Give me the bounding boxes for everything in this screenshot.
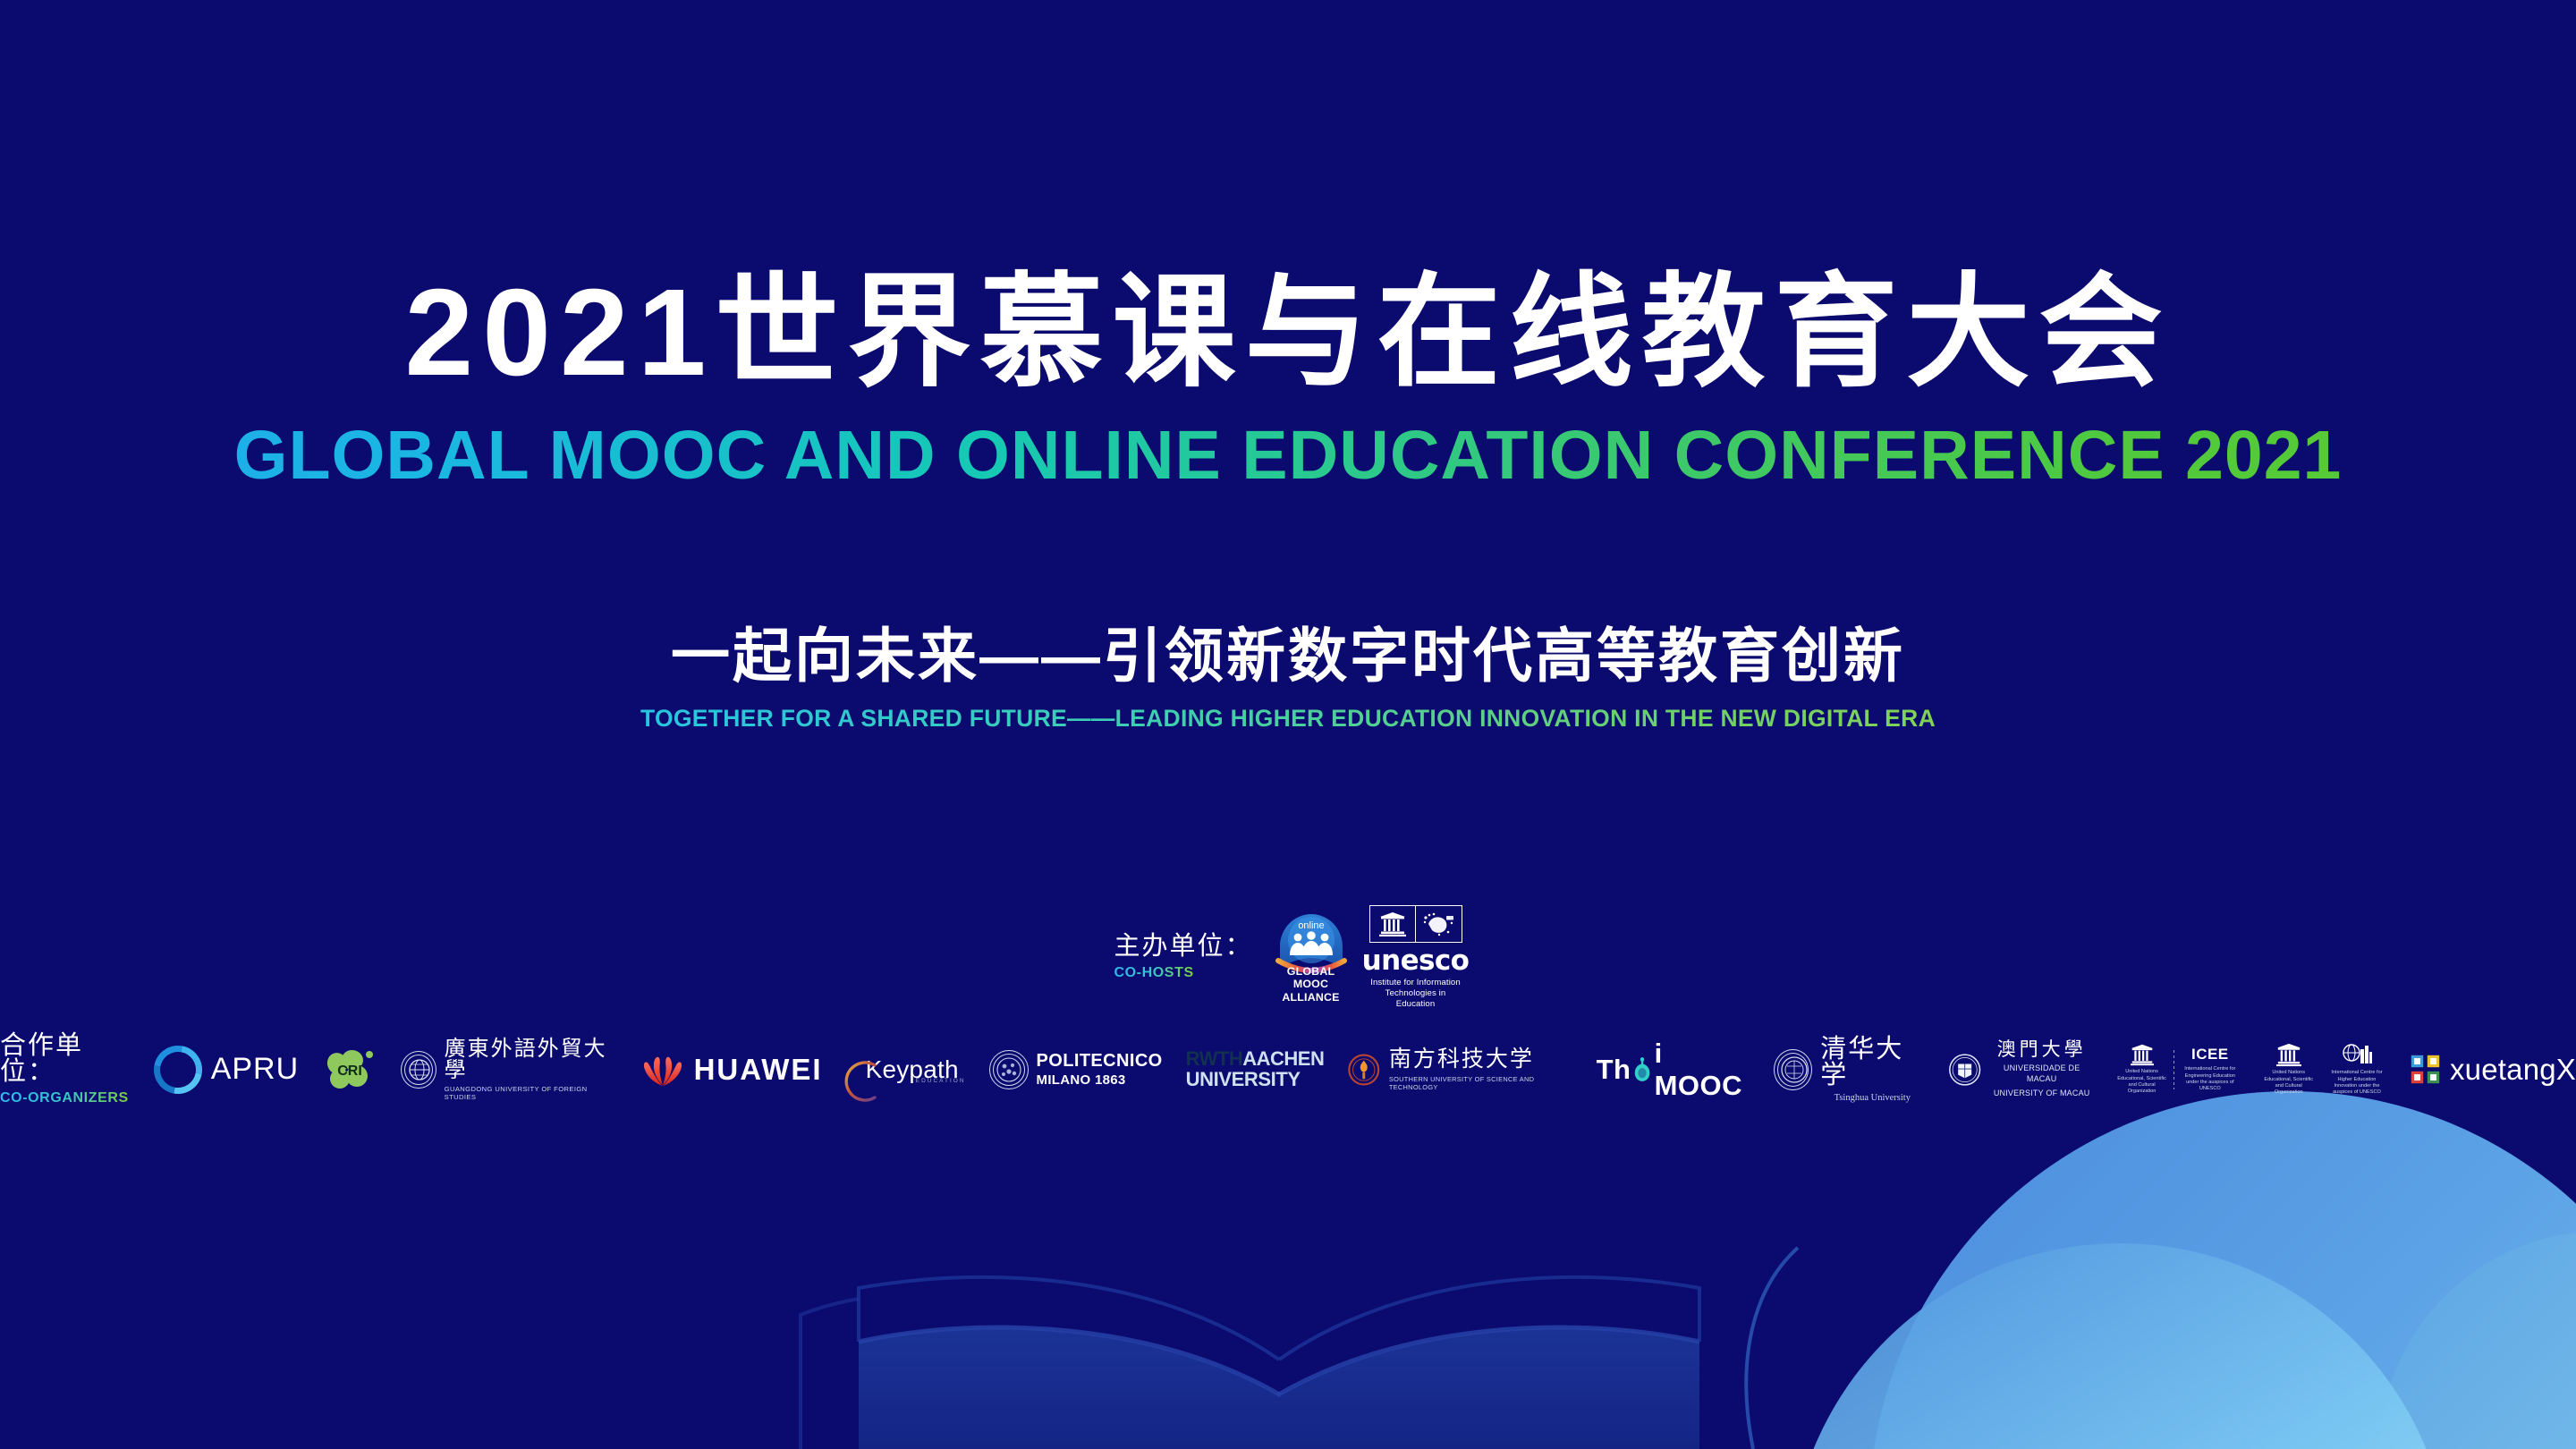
logo-huawei[interactable]: HUAWEI — [642, 1041, 823, 1098]
unesco-sub-line2: Technologies in Education — [1369, 988, 1462, 1010]
logo-unesco-ichei[interactable]: United Nations Educational, Scientific a… — [2263, 1041, 2386, 1098]
cri-wordmark: CRI — [337, 1063, 362, 1079]
gdufs-name-cn: 廣東外語外貿大學 — [445, 1038, 619, 1081]
sustech-name-en: SOUTHERN UNIVERSITY OF SCIENCE AND TECHN… — [1389, 1075, 1573, 1091]
conference-title-cn: 2021世界慕课与在线教育大会 — [0, 268, 2576, 398]
ichei-unesco-block: United Nations Educational, Scientific a… — [2263, 1042, 2315, 1096]
politecnico-seal-icon — [989, 1050, 1029, 1089]
xuetangx-cube-icon — [2410, 1054, 2442, 1086]
macau-name-en: UNIVERSITY OF MACAU — [1994, 1088, 2090, 1098]
xuetangx-wordmark: xuetangX — [2450, 1053, 2576, 1087]
huawei-wordmark: HUAWEI — [694, 1053, 823, 1087]
gdufs-seal-icon — [401, 1051, 436, 1089]
logo-cri[interactable]: CRI — [322, 1041, 377, 1098]
ichei-subtitle: International Centre for Higher Educatio… — [2327, 1070, 2386, 1096]
unesco-iite-subtitle: Institute for Information Technologies i… — [1369, 978, 1462, 1010]
tsinghua-seal-icon — [1774, 1049, 1812, 1090]
keypath-arc-icon — [841, 1058, 887, 1105]
ichei-unesco-subtitle: United Nations Educational, Scientific a… — [2263, 1070, 2315, 1096]
unesco-temple-icon — [1370, 906, 1417, 942]
sustech-name-cn: 南方科技大学 — [1389, 1048, 1573, 1071]
logo-gdufs[interactable]: 廣東外語外貿大學 GUANGDONG UNIVERSITY OF FOREIGN… — [401, 1041, 618, 1098]
coorganizers-row: 合作单位： CO-ORGANIZERS APRU CRI — [0, 1033, 2576, 1106]
ichei-globe-city-icon — [2342, 1042, 2372, 1067]
logo-politecnico-milano[interactable]: POLITECNICO MILANO 1863 — [989, 1041, 1163, 1098]
cohosts-label-cn: 主办单位： — [1114, 934, 1252, 960]
unesco-temple-icon — [2275, 1042, 2303, 1067]
title-block: 2021世界慕课与在线教育大会 GLOBAL MOOC AND ONLINE E… — [0, 268, 2576, 496]
icee-unesco-subtitle: United Nations Educational, Scientific a… — [2116, 1069, 2168, 1095]
banner-content: 2021世界慕课与在线教育大会 GLOBAL MOOC AND ONLINE E… — [0, 0, 2576, 1449]
unesco-wordmark: unesco — [1362, 947, 1470, 975]
logo-global-mooc-alliance[interactable]: online GLOBAL MOOC ALLIANCE — [1273, 911, 1350, 1004]
unesco-emblems — [1369, 905, 1462, 943]
logo-unesco-iite[interactable]: unesco Institute for Information Technol… — [1369, 905, 1462, 1010]
logo-university-of-macau[interactable]: 澳門大學 UNIVERSIDADE DE MACAU UNIVERSITY OF… — [1947, 1041, 2092, 1098]
thai-mooc-vessel-icon — [1632, 1055, 1652, 1085]
thai-mooc-wordmark-a: Th — [1597, 1054, 1631, 1086]
logo-rwth-aachen[interactable]: RWTHAACHEN UNIVERSITY — [1186, 1041, 1325, 1098]
politecnico-line1: POLITECNICO — [1037, 1052, 1163, 1070]
macau-name-cn: 澳門大學 — [1997, 1040, 2087, 1059]
conference-theme-en: TOGETHER FOR A SHARED FUTURE——LEADING HI… — [0, 705, 2576, 733]
logo-unesco-icee[interactable]: United Nations Educational, Scientific a… — [2116, 1041, 2240, 1098]
logo-tsinghua[interactable]: 清华大学 Tsinghua University — [1774, 1041, 1924, 1098]
icee-name-block: ICEE International Centre for Engineerin… — [2181, 1046, 2240, 1092]
huawei-flower-icon — [642, 1052, 683, 1088]
tsinghua-name-cn: 清华大学 — [1820, 1037, 1924, 1089]
gma-line2: ALLIANCE — [1273, 991, 1350, 1004]
tsinghua-name-en: Tsinghua University — [1835, 1093, 1911, 1103]
logo-apru[interactable]: APRU — [154, 1041, 299, 1098]
icee-wordmark: ICEE — [2191, 1046, 2229, 1063]
logo-keypath[interactable]: Keypath EDUCATION — [846, 1041, 966, 1098]
icee-unesco-block: United Nations Educational, Scientific a… — [2116, 1043, 2168, 1095]
conference-theme-cn: 一起向未来——引领新数字时代高等教育创新 — [0, 608, 2576, 694]
cohosts-label: 主办单位： CO-HOSTS — [1114, 934, 1252, 980]
cohosts-label-en: CO-HOSTS — [1114, 966, 1193, 980]
ichei-name-block: International Centre for Higher Educatio… — [2327, 1042, 2386, 1096]
apru-ring-icon — [144, 1036, 211, 1103]
icee-subtitle: International Centre for Engineering Edu… — [2181, 1066, 2240, 1092]
global-mooc-alliance-wordmark: GLOBAL MOOC ALLIANCE — [1273, 965, 1350, 1004]
macau-name-pt: UNIVERSIDADE DE MACAU — [1991, 1063, 2093, 1084]
coorganizers-label: 合作单位： CO-ORGANIZERS — [0, 1033, 131, 1106]
logo-xuetangx[interactable]: xuetangX — [2410, 1041, 2576, 1098]
rwth-line1a: RWTH — [1186, 1047, 1243, 1070]
rwth-line1b: AACHEN — [1242, 1047, 1324, 1070]
thai-mooc-wordmark-b: i MOOC — [1655, 1038, 1751, 1102]
theme-block: 一起向未来——引领新数字时代高等教育创新 TOGETHER FOR A SHAR… — [0, 608, 2576, 733]
apru-wordmark: APRU — [211, 1052, 299, 1087]
logo-thai-mooc[interactable]: Th i MOOC — [1597, 1041, 1751, 1098]
sustech-torch-seal-icon — [1347, 1052, 1381, 1088]
cri-leaf-icon: CRI — [322, 1048, 377, 1091]
coorganizers-label-en: CO-ORGANIZERS — [0, 1091, 129, 1106]
gma-line1: GLOBAL MOOC — [1273, 965, 1350, 991]
unesco-temple-icon — [2129, 1043, 2156, 1066]
cohosts-row: 主办单位： CO-HOSTS — [0, 905, 2576, 1010]
politecnico-line2: MILANO 1863 — [1037, 1073, 1163, 1087]
coorganizers-label-cn: 合作单位： — [0, 1033, 131, 1085]
logo-sustech[interactable]: 南方科技大学 SOUTHERN UNIVERSITY OF SCIENCE AN… — [1347, 1041, 1572, 1098]
unesco-iite-network-icon — [1416, 906, 1462, 942]
conference-title-en: GLOBAL MOOC AND ONLINE EDUCATION CONFERE… — [0, 416, 2576, 496]
keypath-subtitle: EDUCATION — [916, 1078, 966, 1084]
unesco-sub-line1: Institute for Information — [1369, 978, 1462, 988]
gdufs-name-en: GUANGDONG UNIVERSITY OF FOREIGN STUDIES — [445, 1085, 619, 1101]
macau-seal-icon — [1947, 1051, 1982, 1089]
rwth-line2: UNIVERSITY — [1186, 1070, 1301, 1089]
svg-text:online: online — [1298, 920, 1324, 931]
